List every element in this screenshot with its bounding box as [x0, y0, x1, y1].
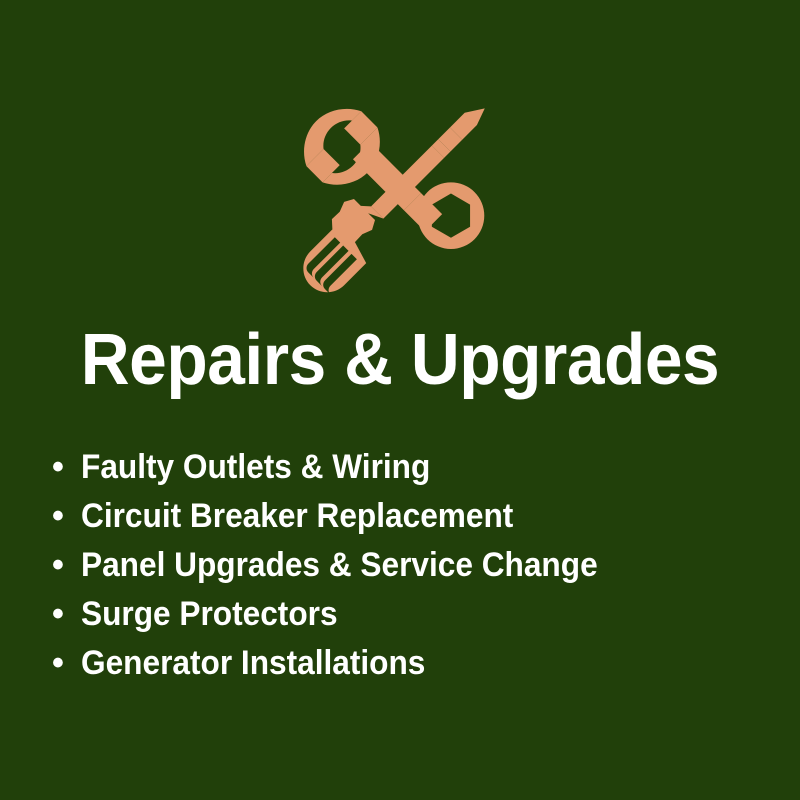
wrench-and-screwdriver-icon	[302, 100, 498, 296]
list-item: • Faulty Outlets & Wiring	[52, 443, 752, 492]
list-item-label: Panel Upgrades & Service Change	[81, 541, 598, 590]
services-list: • Faulty Outlets & Wiring • Circuit Brea…	[52, 443, 752, 688]
list-item-label: Faulty Outlets & Wiring	[81, 443, 430, 492]
list-item: • Generator Installations	[52, 639, 752, 688]
bullet-icon: •	[52, 590, 81, 639]
list-item-label: Generator Installations	[81, 639, 425, 688]
list-item-label: Circuit Breaker Replacement	[81, 492, 513, 541]
page-title: Repairs & Upgrades	[24, 324, 776, 396]
bullet-icon: •	[52, 639, 81, 688]
list-item: • Panel Upgrades & Service Change	[52, 541, 752, 590]
bullet-icon: •	[52, 541, 81, 590]
list-item: • Surge Protectors	[52, 590, 752, 639]
bullet-icon: •	[52, 443, 81, 492]
repairs-upgrades-card: Repairs & Upgrades • Faulty Outlets & Wi…	[0, 0, 800, 800]
bullet-icon: •	[52, 492, 81, 541]
icon-container	[0, 100, 800, 296]
list-item-label: Surge Protectors	[81, 590, 338, 639]
list-item: • Circuit Breaker Replacement	[52, 492, 752, 541]
